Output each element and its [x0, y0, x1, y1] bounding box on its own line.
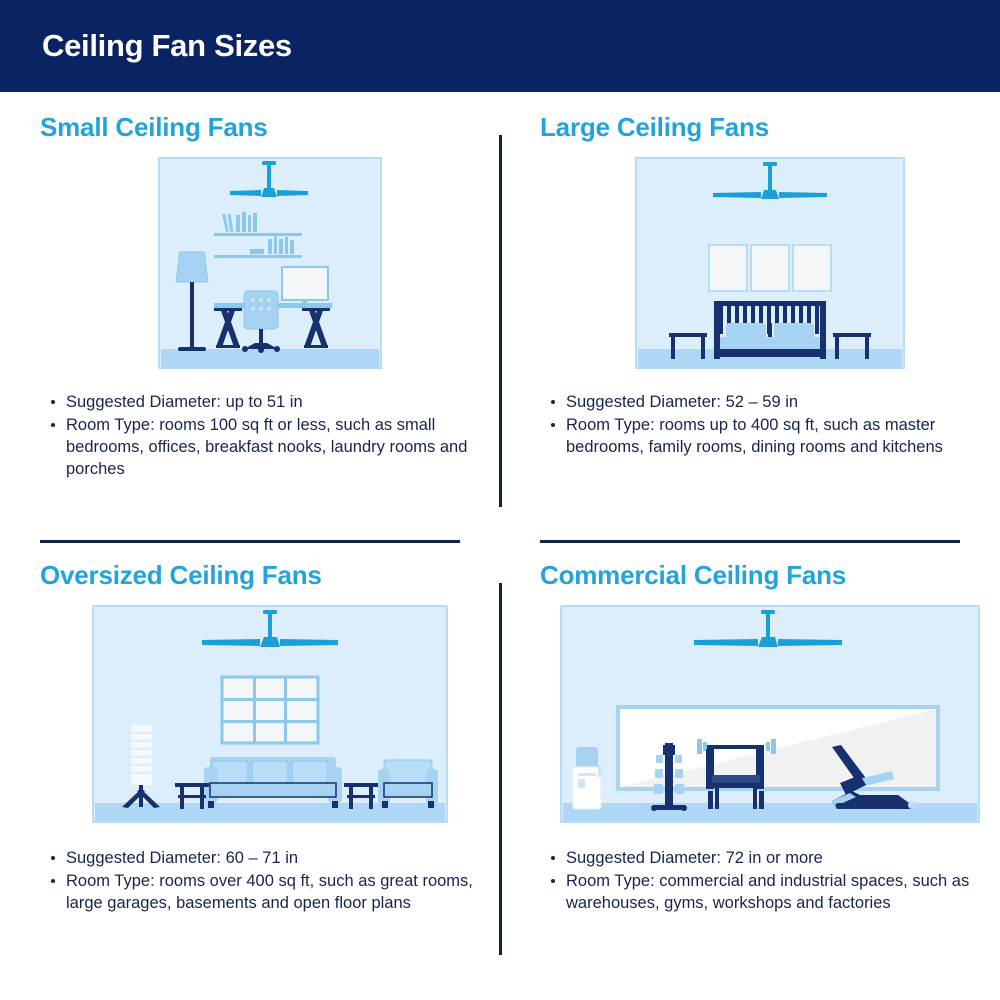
page-header: Ceiling Fan Sizes: [0, 0, 1000, 92]
gym-scene: [560, 605, 980, 823]
section-small: Small Ceiling Fans: [40, 112, 500, 481]
home-office-scene: [158, 157, 382, 369]
illustration-living-room: [92, 605, 448, 823]
list-item: Suggested Diameter: 52 – 59 in: [540, 391, 1000, 413]
list-item: Room Type: rooms 100 sq ft or less, such…: [40, 414, 500, 480]
bedroom-scene: [635, 157, 905, 369]
list-item: Suggested Diameter: 72 in or more: [540, 847, 1000, 869]
infographic-page: Ceiling Fan Sizes Small Ceiling Fans: [0, 0, 1000, 1000]
section-title-oversized: Oversized Ceiling Fans: [40, 560, 500, 591]
living-room-scene: [92, 605, 448, 823]
section-title-large: Large Ceiling Fans: [540, 112, 1000, 143]
room-floor: [95, 803, 445, 821]
section-commercial: Commercial Ceiling Fans: [540, 560, 1000, 915]
section-title-commercial: Commercial Ceiling Fans: [540, 560, 1000, 591]
list-item: Suggested Diameter: 60 – 71 in: [40, 847, 500, 869]
wall-art-frames: [709, 245, 831, 291]
list-item: Room Type: commercial and industrial spa…: [540, 870, 1000, 914]
illustration-bedroom: [635, 157, 905, 369]
list-item: Suggested Diameter: up to 51 in: [40, 391, 500, 413]
section-oversized: Oversized Ceiling Fans: [40, 560, 500, 915]
window: [222, 677, 318, 743]
water-cooler: [573, 747, 602, 809]
illustration-gym: [560, 605, 980, 823]
monitor: [282, 267, 328, 306]
page-title: Ceiling Fan Sizes: [42, 28, 292, 64]
bullet-list-large: Suggested Diameter: 52 – 59 in Room Type…: [540, 391, 1000, 458]
list-item: Room Type: rooms up to 400 sq ft, such a…: [540, 414, 1000, 458]
list-item: Room Type: rooms over 400 sq ft, such as…: [40, 870, 500, 914]
sections-grid: Small Ceiling Fans: [0, 92, 1000, 1000]
illustration-home-office: [158, 157, 382, 369]
room-floor: [161, 349, 379, 367]
bed: [714, 301, 826, 359]
bullet-list-small: Suggested Diameter: up to 51 in Room Typ…: [40, 391, 500, 480]
bullet-list-oversized: Suggested Diameter: 60 – 71 in Room Type…: [40, 847, 500, 914]
bullet-list-commercial: Suggested Diameter: 72 in or more Room T…: [540, 847, 1000, 914]
section-title-small: Small Ceiling Fans: [40, 112, 500, 143]
section-large: Large Ceiling Fans: [540, 112, 1000, 459]
